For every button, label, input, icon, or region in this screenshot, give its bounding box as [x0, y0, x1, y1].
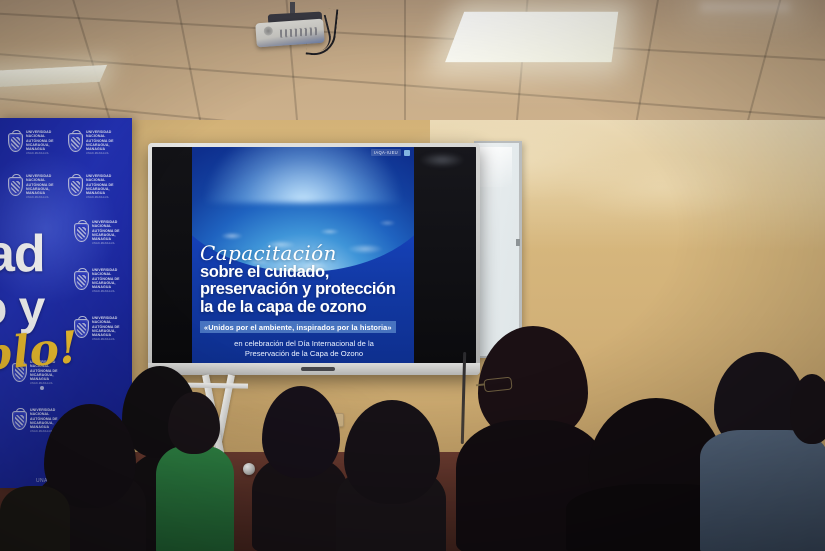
unan-logo-cell: UNIVERSIDADNACIONALAUTÓNOMA DENICARAGUA,… [68, 130, 114, 155]
unan-crest-icon [8, 133, 23, 152]
unan-logo-cell: UNIVERSIDADNACIONALAUTÓNOMA DENICARAGUA,… [8, 174, 54, 199]
presentation-slide: IAQA-IUEU Capacitación sobre el cuidado,… [192, 147, 414, 363]
ceiling-light-panel-left [0, 65, 107, 88]
unan-crest-icon [68, 133, 83, 152]
letterbox-bar-left [152, 147, 192, 363]
unan-logo-cell: UNIVERSIDADNACIONALAUTÓNOMA DENICARAGUA,… [74, 316, 120, 341]
whiteboard-glare [478, 147, 512, 187]
unan-logo-cell: UNIVERSIDADNACIONALAUTÓNOMA DENICARAGUA,… [68, 174, 114, 199]
logo-subtitle: UNAN-MANAGUA [26, 152, 54, 155]
letterbox-bar-right [414, 147, 476, 363]
unan-logo-cell: UNIVERSIDADNACIONALAUTÓNOMA DENICARAGUA,… [74, 220, 120, 245]
slide-footnote: en celebración del Día Internacional de … [200, 339, 408, 360]
unan-crest-icon [74, 223, 89, 242]
unan-logo-cell: UNIVERSIDADNACIONALAUTÓNOMA DENICARAGUA,… [74, 268, 120, 293]
whiteboard-marking [490, 215, 496, 220]
display-screen[interactable]: IAQA-IUEU Capacitación sobre el cuidado,… [152, 147, 476, 363]
logo-line-5: MANAGUA [26, 147, 45, 151]
slide-headline-3: la de la capa de ozono [200, 299, 408, 316]
projector-lens [264, 26, 274, 36]
slide-footnote-line-1: en celebración del Día Internacional de … [234, 339, 374, 348]
unan-logo-cell: UNIVERSIDADNACIONALAUTÓNOMA DENICARAGUA,… [12, 408, 58, 433]
slide-headline-2: preservación y protección [200, 281, 408, 298]
banner-registered-mark [40, 386, 44, 390]
person-left-edge-body [0, 486, 70, 551]
banner-slogan-fragment-3: blo! [0, 322, 80, 381]
ceiling-projector [252, 2, 330, 50]
whiteboard [474, 141, 522, 358]
unan-crest-icon [8, 177, 23, 196]
slide-footnote-line-2: Preservación de la Capa de Ozono [206, 349, 402, 359]
flat-panel-display[interactable]: IAQA-IUEU Capacitación sobre el cuidado,… [148, 143, 480, 375]
ceiling-light-glare [700, 2, 790, 12]
unan-crest-icon [12, 411, 27, 430]
source-input-icon [404, 150, 410, 156]
person-green-shirt-head [168, 392, 220, 454]
ceiling-light-panel-main [445, 12, 618, 62]
slide-script-title: Capacitación [200, 243, 408, 263]
unan-logo-cell: UNIVERSIDAD NACIONAL AUTÓNOMA DE NICARAG… [8, 130, 54, 155]
display-bottom-bezel [148, 363, 480, 375]
person-green-shirt-body [156, 446, 234, 551]
slide-headline-1: sobre el cuidado, [200, 264, 408, 281]
osd-source-label: IAQA-IUEU [371, 149, 401, 156]
whiteboard-clip [516, 239, 520, 246]
display-osd: IAQA-IUEU [371, 149, 410, 156]
display-stand-caster [243, 463, 255, 475]
banner-slogan-fragment-1: ad [0, 224, 45, 284]
person-right-denim-body [700, 430, 825, 551]
slide-text-block: Capacitación sobre el cuidado, preservac… [200, 243, 408, 359]
unan-crest-icon [68, 177, 83, 196]
unan-crest-icon [74, 271, 89, 290]
suspended-ceiling [0, 0, 825, 128]
presentation-room-photo: UNIVERSIDAD NACIONAL AUTÓNOMA DE NICARAG… [0, 0, 825, 551]
slide-highlight-quote: «Unidos por el ambiente, inspirados por … [200, 321, 396, 333]
